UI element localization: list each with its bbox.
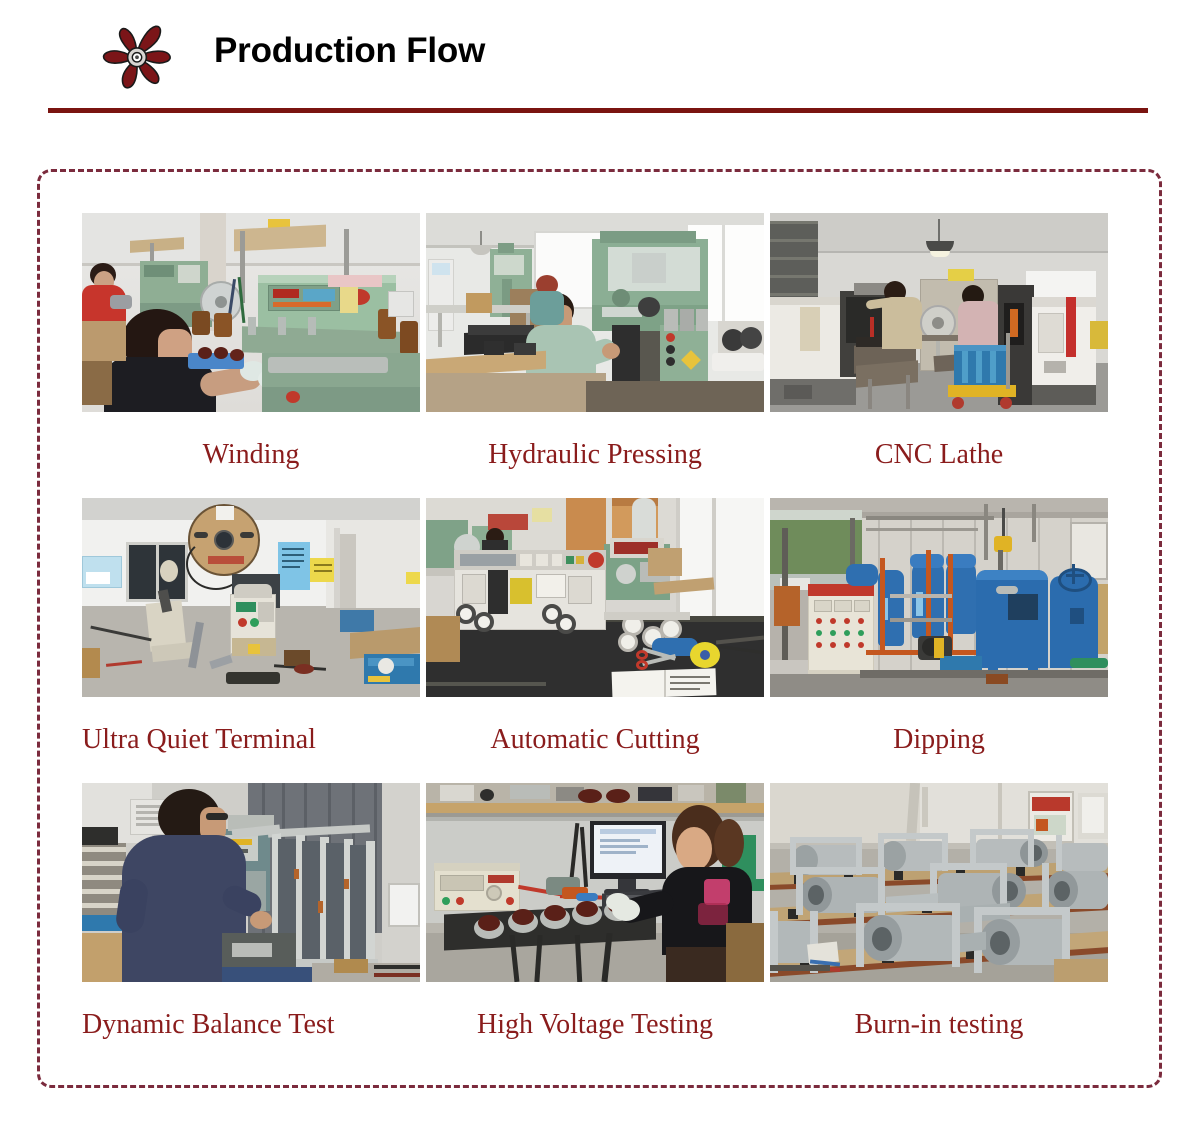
high-voltage-testing-photo [426,783,764,982]
page-title: Production Flow [214,31,485,71]
page-header: Production Flow [0,0,1200,112]
step-card-automatic-cutting[interactable]: Automatic Cutting [426,498,764,783]
hydraulic-press-photo [426,213,764,412]
title-divider [48,108,1148,113]
terminal-crimping-photo [82,498,420,697]
cnc-lathe-photo [770,213,1108,412]
step-card-ultra-quiet-terminal[interactable]: Ultra Quiet Terminal [82,498,420,783]
production-steps-grid: Winding [82,213,1108,1068]
step-caption: Automatic Cutting [426,697,764,783]
step-card-cnc-lathe[interactable]: CNC Lathe [770,213,1108,498]
fan-impeller-icon [98,22,176,94]
step-caption: High Voltage Testing [426,982,764,1068]
winding-station-photo [82,213,420,412]
dynamic-balance-test-photo [82,783,420,982]
automatic-wire-cutting-photo [426,498,764,697]
step-card-hydraulic-pressing[interactable]: Hydraulic Pressing [426,213,764,498]
step-caption: Dynamic Balance Test [82,982,420,1068]
step-card-winding[interactable]: Winding [82,213,420,498]
step-card-burn-in-testing[interactable]: Burn-in testing [770,783,1108,1068]
step-card-dynamic-balance-test[interactable]: Dynamic Balance Test [82,783,420,1068]
step-caption: Winding [82,412,420,498]
step-caption: Burn-in testing [770,982,1108,1068]
burn-in-testing-photo [770,783,1108,982]
step-card-dipping[interactable]: Dipping [770,498,1108,783]
step-card-high-voltage-testing[interactable]: High Voltage Testing [426,783,764,1068]
step-caption: CNC Lathe [770,412,1108,498]
step-caption: Ultra Quiet Terminal [82,697,420,783]
dipping-tanks-photo [770,498,1108,697]
step-caption: Hydraulic Pressing [426,412,764,498]
step-caption: Dipping [770,697,1108,783]
